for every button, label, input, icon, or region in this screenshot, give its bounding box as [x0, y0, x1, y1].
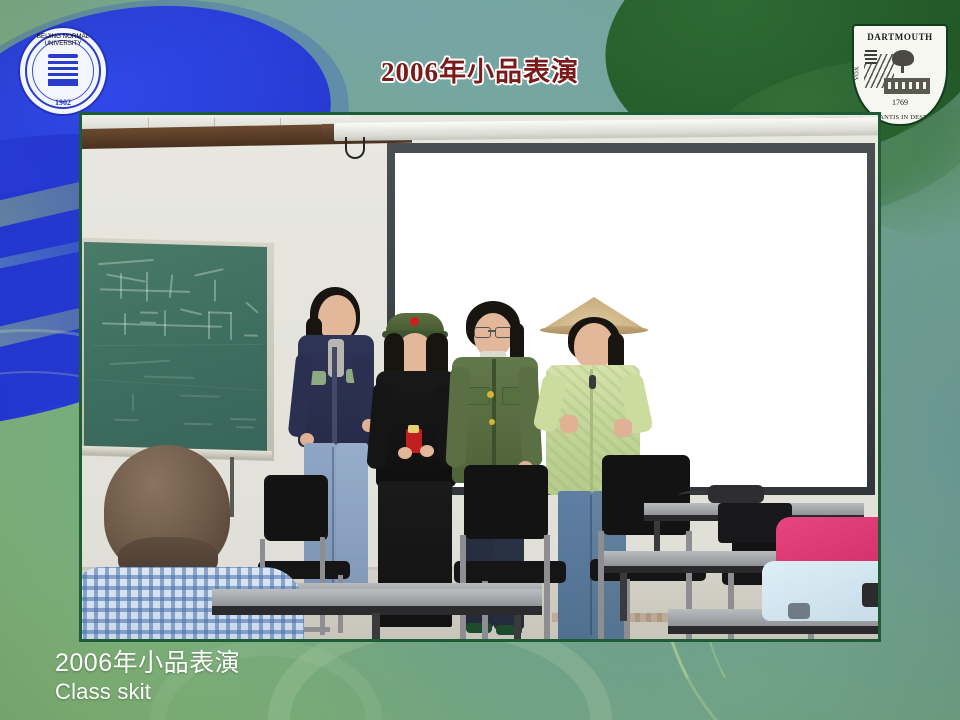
- seal-university-name: BEIJING NORMAL UNIVERSITY: [22, 33, 104, 47]
- slide-title: 2006年小品表演: [0, 50, 960, 89]
- photo-foreground-desk-top: [212, 589, 542, 607]
- seal-founding-year: 1902: [20, 98, 106, 107]
- slide-caption: 2006年小品表演 Class skit: [55, 648, 240, 706]
- photo-desk-cable: [678, 491, 710, 501]
- presentation-slide: BEIJING NORMAL UNIVERSITY 1902 DARTMOUTH…: [0, 0, 960, 720]
- photo-screen-pull-hook: [345, 137, 365, 159]
- caption-chinese: 2006年小品表演: [55, 648, 240, 678]
- photo-desk-cable-bundle: [708, 485, 764, 503]
- photo-foreground-desk-leg: [372, 613, 380, 642]
- photo-dark-item: [862, 583, 881, 607]
- photo-grey-item: [788, 603, 810, 619]
- shield-college-name: DARTMOUTH: [854, 32, 946, 42]
- caption-english: Class skit: [55, 678, 240, 706]
- photo-chalkboard: [84, 242, 267, 452]
- shield-founding-year: 1769: [854, 98, 946, 107]
- class-skit-photograph: [79, 112, 881, 642]
